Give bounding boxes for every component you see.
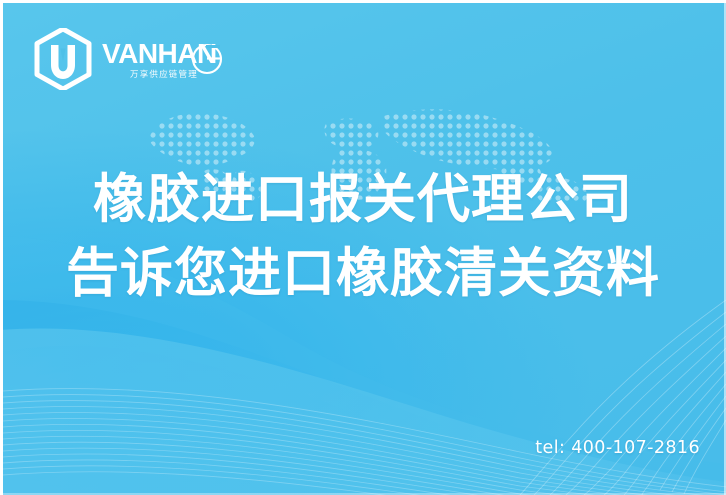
frame-edge-top <box>0 0 726 3</box>
headline-line-2: 告诉您进口橡胶清关资料 <box>0 242 726 307</box>
brand-logo[interactable]: VANHAN 万享供应链管理 <box>34 28 224 90</box>
wordmark-subtitle-text: 万享供应链管理 <box>130 69 198 80</box>
contact-phone[interactable]: tel: 400-107-2816 <box>535 438 700 458</box>
vanhang-hexagon-logo <box>34 28 92 90</box>
page-title: 橡胶进口报关代理公司 告诉您进口橡胶清关资料 <box>0 168 726 306</box>
frame-edge-left <box>0 0 3 495</box>
wordmark-text: VANHAN <box>102 38 217 69</box>
brand-wordmark: VANHAN 万享供应链管理 <box>102 33 224 85</box>
promo-banner: VANHAN 万享供应链管理 橡胶进口报关代理公司 告诉您进口橡胶清关资料 te… <box>0 0 726 495</box>
headline-line-1: 橡胶进口报关代理公司 <box>0 168 726 233</box>
